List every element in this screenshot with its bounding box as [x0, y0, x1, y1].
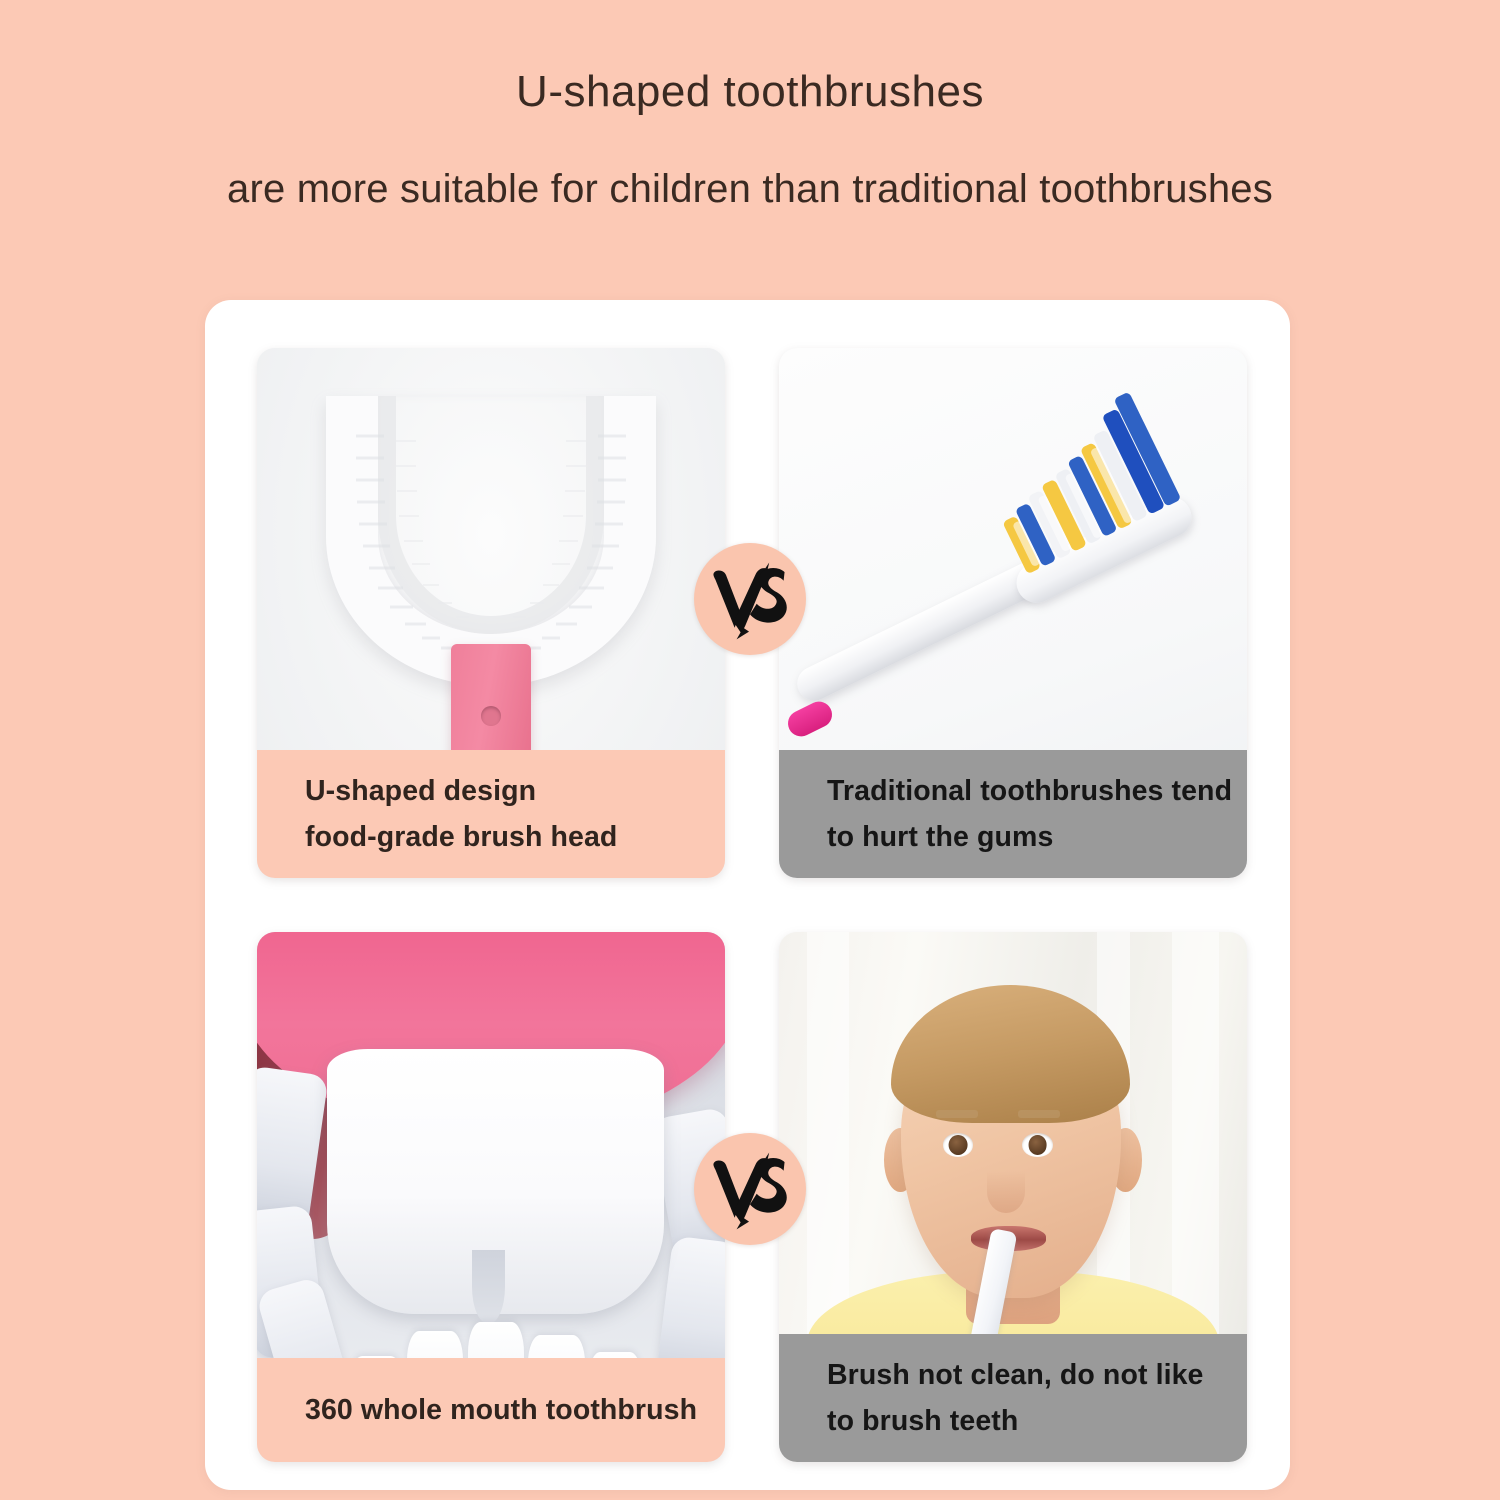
panel-whole-mouth-brush: 360 whole mouth toothbrush: [257, 932, 725, 1462]
caption-line: to brush teeth: [827, 1398, 1207, 1444]
eye-left: [943, 1133, 973, 1156]
panel-traditional-brush: Traditional toothbrushes tend to hurt th…: [779, 348, 1247, 878]
caption-child-not-brushing: Brush not clean, do not like to brush te…: [779, 1334, 1247, 1462]
caption-line: to hurt the gums: [827, 814, 1207, 860]
vs-icon: [702, 1141, 798, 1237]
caption-line: 360 whole mouth toothbrush: [305, 1387, 697, 1433]
comparison-card: U-shaped design food-grade brush head: [205, 300, 1290, 1490]
eye-right: [1022, 1133, 1052, 1156]
vs-badge-top: [694, 543, 806, 655]
caption-line: U-shaped design: [305, 768, 685, 814]
comparison-grid: U-shaped design food-grade brush head: [257, 348, 1247, 1448]
vs-badge-bottom: [694, 1133, 806, 1245]
brush-handle: [451, 644, 531, 764]
caption-traditional-brush: Traditional toothbrushes tend to hurt th…: [779, 750, 1247, 878]
handle-hole: [481, 706, 501, 726]
caption-line: Traditional toothbrushes tend: [827, 768, 1207, 814]
page-title: U-shaped toothbrushes: [0, 66, 1500, 119]
panel-u-shaped-brush: U-shaped design food-grade brush head: [257, 348, 725, 878]
page-header: U-shaped toothbrushes are more suitable …: [0, 0, 1500, 212]
caption-line: Brush not clean, do not like: [827, 1352, 1207, 1398]
caption-line: food-grade brush head: [305, 814, 685, 860]
caption-whole-mouth-brush: 360 whole mouth toothbrush: [257, 1358, 725, 1462]
nose: [987, 1171, 1024, 1213]
page-subtitle: are more suitable for children than trad…: [0, 167, 1500, 212]
vs-icon: [702, 551, 798, 647]
caption-u-shaped-brush: U-shaped design food-grade brush head: [257, 750, 725, 878]
traditional-toothbrush-icon: [791, 374, 1247, 794]
hair: [891, 985, 1130, 1123]
panel-child-not-brushing: Brush not clean, do not like to brush te…: [779, 932, 1247, 1462]
